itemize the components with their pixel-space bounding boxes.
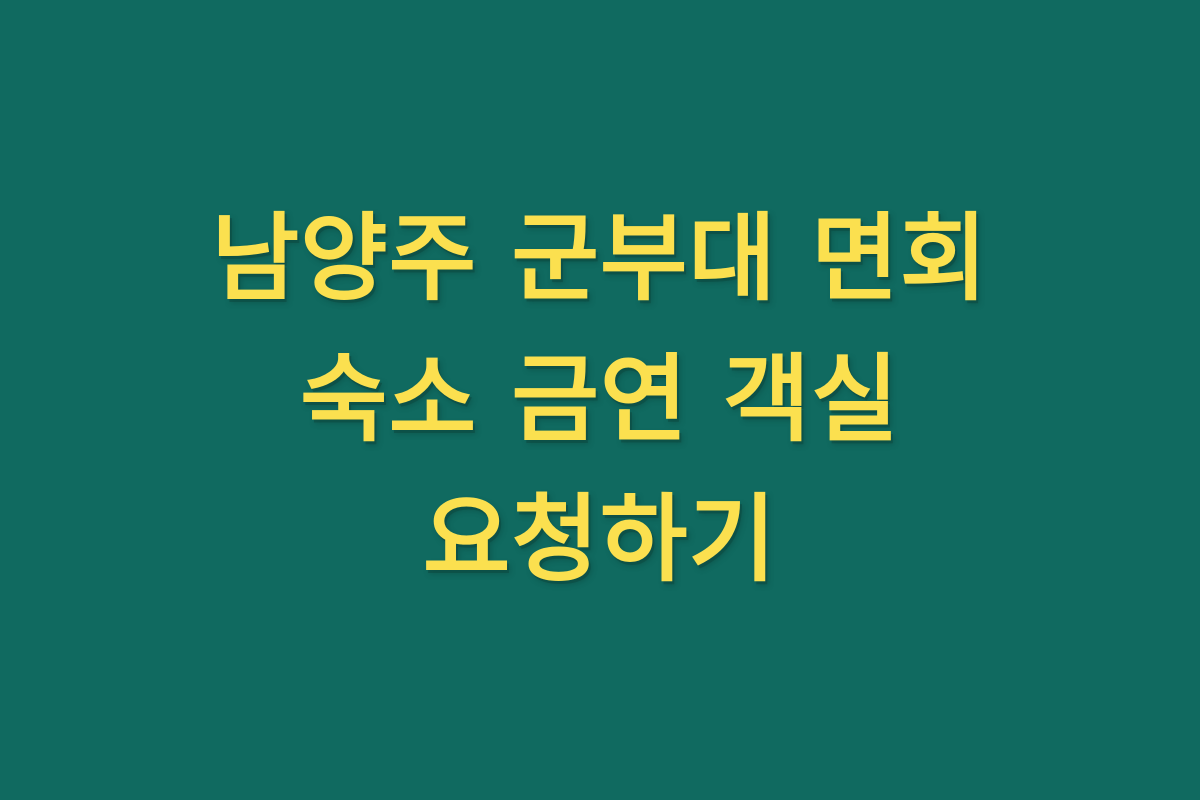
headline-container: 남양주 군부대 면회 숙소 금연 객실 요청하기 xyxy=(0,189,1200,611)
title-card: 남양주 군부대 면회 숙소 금연 객실 요청하기 xyxy=(0,0,1200,800)
page-title: 남양주 군부대 면회 숙소 금연 객실 요청하기 xyxy=(124,189,1076,611)
